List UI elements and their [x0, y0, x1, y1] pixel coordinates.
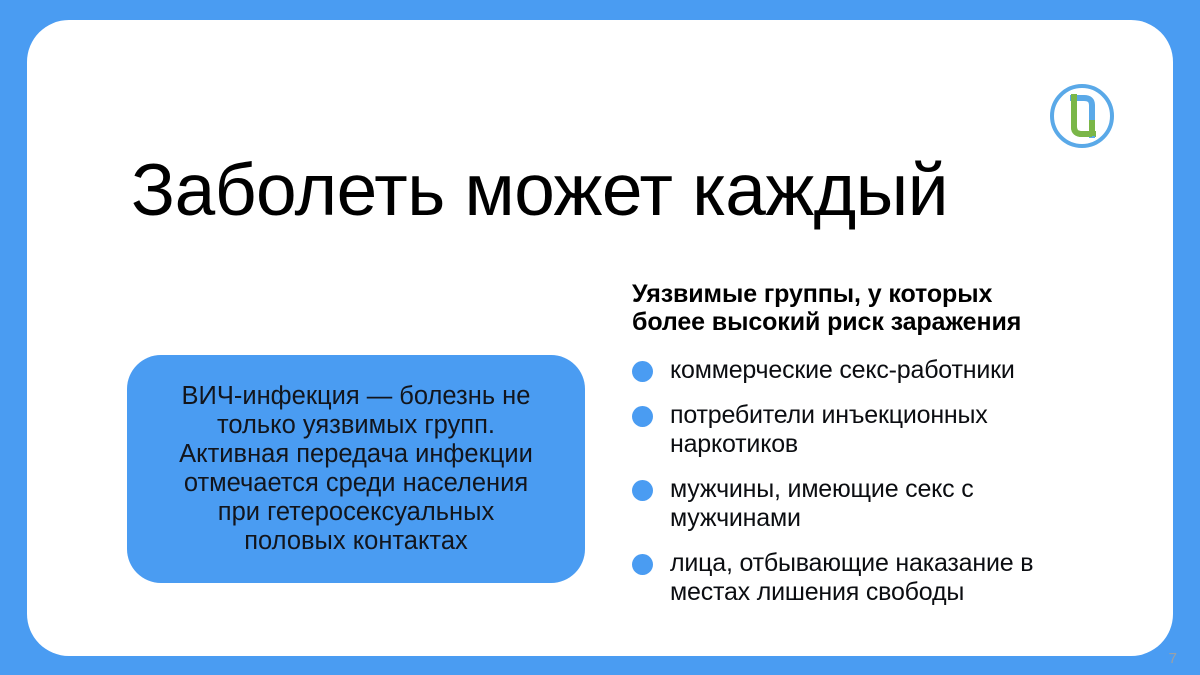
- vulnerable-groups-heading: Уязвимые группы, у которых более высокий…: [632, 280, 1132, 336]
- bullet-dot-icon: [632, 554, 653, 575]
- list-item: коммерческие секс-работники: [632, 356, 1132, 385]
- slide-card: Заболеть может каждый ВИЧ-инфекция — бол…: [27, 20, 1173, 656]
- bullet-dot-icon: [632, 361, 653, 382]
- list-item: мужчины, имеющие секс с мужчинами: [632, 475, 1132, 533]
- list-item: потребители инъекционных наркотиков: [632, 401, 1132, 459]
- list-item: лица, отбывающие наказание в местах лише…: [632, 549, 1132, 607]
- page-number: 7: [1147, 650, 1177, 667]
- list-item-label: лица, отбывающие наказание в местах лише…: [670, 549, 1033, 607]
- bullet-dot-icon: [632, 406, 653, 427]
- page-title: Заболеть может каждый: [131, 153, 1111, 230]
- organization-logo: [1048, 82, 1116, 150]
- bullet-dot-icon: [632, 480, 653, 501]
- slide-root: Заболеть может каждый ВИЧ-инфекция — бол…: [0, 0, 1200, 675]
- callout-text: ВИЧ-инфекция — болезнь не только уязвимы…: [179, 382, 533, 556]
- callout-box: ВИЧ-инфекция — болезнь не только уязвимы…: [127, 355, 585, 583]
- vulnerable-groups-list: коммерческие секс-работники потребители …: [632, 356, 1132, 607]
- logo-icon: [1048, 82, 1116, 150]
- vulnerable-groups-panel: Уязвимые группы, у которых более высокий…: [632, 280, 1132, 607]
- list-item-label: потребители инъекционных наркотиков: [670, 401, 988, 459]
- list-item-label: мужчины, имеющие секс с мужчинами: [670, 475, 974, 533]
- list-item-label: коммерческие секс-работники: [670, 356, 1015, 385]
